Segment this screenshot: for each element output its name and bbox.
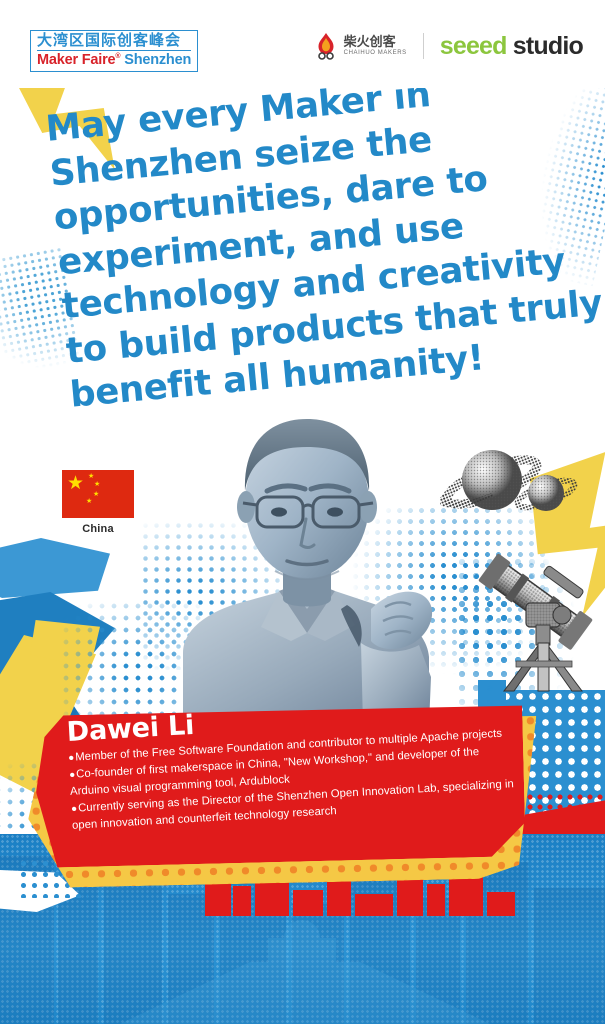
chaihuo-chinese-label: 柴火创客: [344, 36, 407, 50]
blue-brush-stroke-a: [0, 538, 110, 598]
flag-star-large: ★: [67, 474, 84, 493]
chaihuo-english-label: CHAIHUO MAKERS: [344, 50, 407, 56]
partner-logos: 柴火创客 CHAIHUO MAKERS seeed studio: [313, 30, 583, 62]
bullet-icon: ●: [71, 804, 78, 815]
flag-star-3: ★: [93, 491, 99, 498]
headline-quote: May every Maker in Shenzhen seize the op…: [44, 57, 605, 418]
logo-divider-rule: [37, 50, 191, 51]
seeed-word: seeed: [440, 32, 507, 60]
flame-icon: [313, 32, 339, 60]
shenzhen-label: Shenzhen: [124, 52, 191, 68]
flag-star-1: ★: [88, 473, 94, 480]
maker-faire-chinese-title: 大湾区国际创客峰会: [37, 33, 191, 48]
seeed-studio-logo: seeed studio: [440, 32, 583, 61]
poster-root: 大湾区国际创客峰会 Maker Faire® Shenzhen: [0, 0, 605, 1024]
logo-vertical-divider: [423, 33, 424, 59]
flag-star-2: ★: [94, 481, 100, 488]
speaker-portrait: [175, 395, 440, 725]
maker-faire-english-title: Maker Faire® Shenzhen: [37, 53, 191, 68]
maker-faire-shenzhen-logo: 大湾区国际创客峰会 Maker Faire® Shenzhen: [30, 30, 198, 72]
halftone-planets-icon: [440, 430, 590, 540]
bullet-icon: ●: [68, 752, 75, 763]
maker-faire-label: Maker Faire: [37, 52, 115, 68]
bullet-icon: ●: [69, 769, 76, 780]
poster-header: 大湾区国际创客峰会 Maker Faire® Shenzhen: [0, 0, 605, 88]
country-label: China: [52, 523, 144, 535]
country-block: ★ ★ ★ ★ ★ China: [52, 470, 144, 535]
flag-star-4: ★: [86, 498, 92, 505]
china-flag-icon: ★ ★ ★ ★ ★: [62, 470, 134, 518]
halftone-telescope-icon: [470, 535, 600, 695]
chaihuo-text-block: 柴火创客 CHAIHUO MAKERS: [344, 36, 407, 56]
trademark-mark: ®: [115, 53, 120, 60]
studio-word-text: studio: [513, 32, 583, 60]
chaihuo-makers-logo: 柴火创客 CHAIHUO MAKERS: [313, 32, 407, 60]
